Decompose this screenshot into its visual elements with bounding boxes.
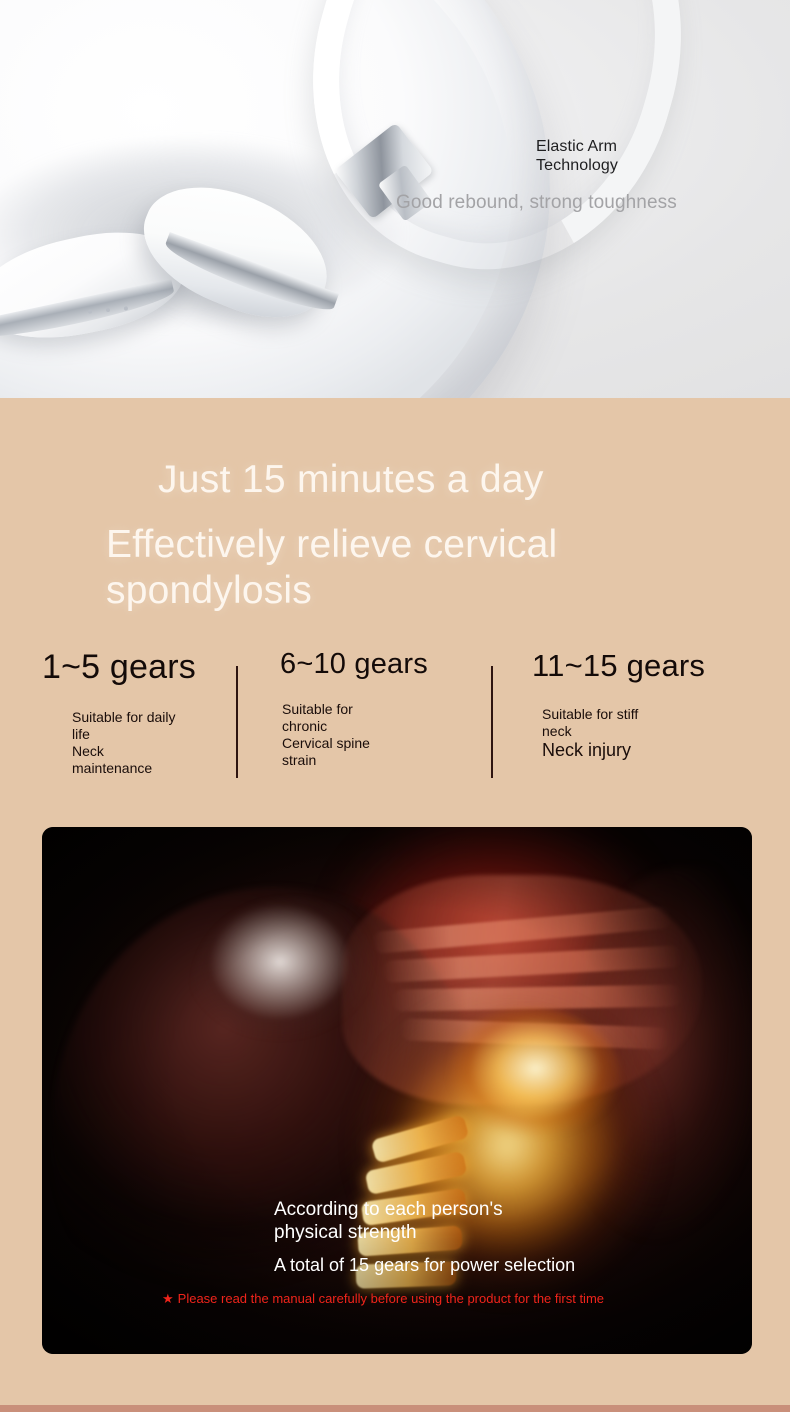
card-caption: According to each person's physical stre…	[274, 1199, 714, 1276]
gear-desc-3-line1: Suitable for stiff	[542, 706, 692, 723]
gear-desc-2-line4: strain	[282, 752, 414, 769]
gear-divider-2	[491, 666, 493, 778]
gear-column-3: 11~15 gears Suitable for stiff neck Neck…	[532, 648, 752, 762]
gear-desc-1-line2: life	[72, 726, 204, 743]
gear-column-1: 1~5 gears Suitable for daily life Neck m…	[42, 648, 232, 777]
feature-label: Elastic Arm Technology	[536, 138, 618, 176]
gear-desc-1-line4: maintenance	[72, 760, 204, 777]
card-caption-line3: A total of 15 gears for power selection	[274, 1255, 714, 1276]
gear-desc-2-line1: Suitable for	[282, 701, 414, 718]
gear-divider-1	[236, 666, 238, 778]
gear-levels-group: 1~5 gears Suitable for daily life Neck m…	[0, 648, 790, 796]
gear-title-2: 6~10 gears	[280, 648, 480, 681]
anatomy-image-card: According to each person's physical stre…	[42, 827, 752, 1354]
gear-title-1: 1~5 gears	[42, 648, 232, 687]
manual-warning-text: Please read the manual carefully before …	[178, 1291, 604, 1306]
headline-primary: Just 15 minutes a day	[158, 458, 544, 502]
gear-desc-1-line3: Neck	[72, 743, 204, 760]
headline-secondary: Effectively relieve cervical spondylosis	[106, 522, 706, 613]
feature-label-line1: Elastic Arm	[536, 138, 618, 157]
gear-desc-2: Suitable for chronic Cervical spine stra…	[282, 701, 414, 769]
manual-warning: ★Please read the manual carefully before…	[162, 1291, 662, 1307]
gear-desc-1-line1: Suitable for daily	[72, 709, 204, 726]
feature-subtext: Good rebound, strong toughness	[396, 192, 677, 214]
gear-desc-2-line3: Cervical spine	[282, 735, 414, 752]
gear-column-2: 6~10 gears Suitable for chronic Cervical…	[280, 648, 480, 769]
product-detail-page: Elastic Arm Technology Good rebound, str…	[0, 0, 790, 1412]
gear-title-3: 11~15 gears	[532, 648, 752, 684]
gear-desc-2-line2: chronic	[282, 718, 414, 735]
gear-desc-1: Suitable for daily life Neck maintenance	[72, 709, 204, 777]
feature-label-line2: Technology	[536, 157, 618, 176]
gear-desc-3: Suitable for stiff neck Neck injury	[542, 706, 692, 762]
gear-desc-3-line2: neck	[542, 723, 692, 740]
gear-desc-3-line3: Neck injury	[542, 740, 692, 762]
star-icon: ★	[162, 1291, 174, 1306]
card-caption-line1: According to each person's	[274, 1199, 714, 1222]
footer-accent-strip	[0, 1405, 790, 1412]
hero-product-photo: Elastic Arm Technology Good rebound, str…	[0, 0, 790, 398]
card-caption-line2: physical strength	[274, 1222, 714, 1245]
